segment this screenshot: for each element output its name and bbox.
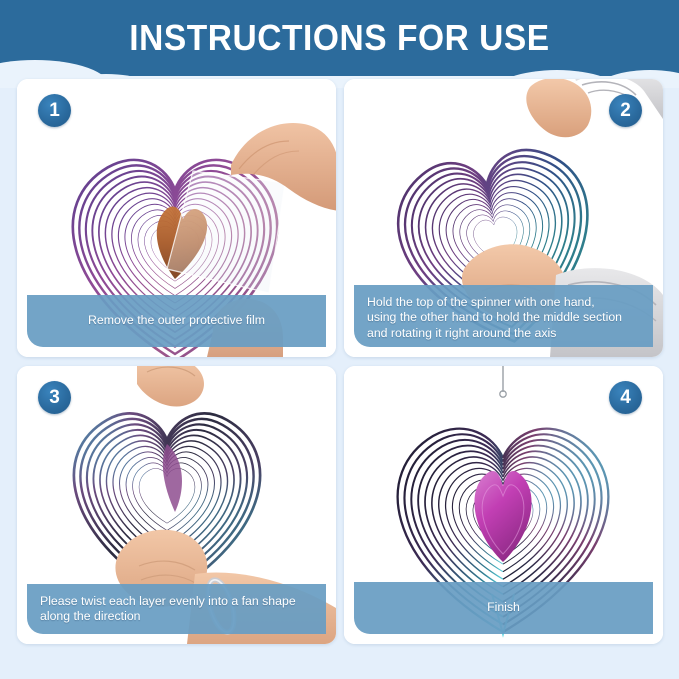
- step-number-badge-2: 2: [609, 94, 642, 127]
- step-caption-3-line: Please twist each layer evenly into a fa…: [40, 594, 313, 609]
- step-number-badge-1: 1: [38, 94, 71, 127]
- step-caption-2-line: Hold the top of the spinner with one han…: [367, 295, 640, 310]
- step-panel-1: 1 Remove the outer protective film: [17, 79, 336, 357]
- step-panel-4: 4 Finish: [344, 366, 663, 644]
- step-1-photo: 1 Remove the outer protective film: [17, 79, 336, 357]
- step-4-photo: 4 Finish: [344, 366, 663, 644]
- step-number-badge-3: 3: [38, 381, 71, 414]
- step-caption-2-line: and rotating it right around the axis: [367, 326, 640, 341]
- step-panel-2: 2 Hold the top of the spinner with one h…: [344, 79, 663, 357]
- step-caption-1: Remove the outer protective film: [27, 295, 326, 347]
- header-banner: INSTRUCTIONS FOR USE: [0, 0, 679, 88]
- step-panel-3: 3 Please twist each layer evenly into a …: [17, 366, 336, 644]
- step-caption-3: Please twist each layer evenly into a fa…: [27, 584, 326, 634]
- step-caption-2: Hold the top of the spinner with one han…: [354, 285, 653, 347]
- step-caption-3-line: along the direction: [40, 609, 313, 624]
- step-caption-4: Finish: [354, 582, 653, 634]
- page-title: INSTRUCTIONS FOR USE: [24, 17, 655, 59]
- step-caption-1-line: Remove the outer protective film: [88, 313, 265, 328]
- step-caption-2-line: using the other hand to hold the middle …: [367, 310, 640, 325]
- step-2-photo: 2 Hold the top of the spinner with one h…: [344, 79, 663, 357]
- step-caption-4-line: Finish: [487, 600, 520, 615]
- instruction-infographic: INSTRUCTIONS FOR USE: [0, 0, 679, 679]
- step-3-photo: 3 Please twist each layer evenly into a …: [17, 366, 336, 644]
- step-number-badge-4: 4: [609, 381, 642, 414]
